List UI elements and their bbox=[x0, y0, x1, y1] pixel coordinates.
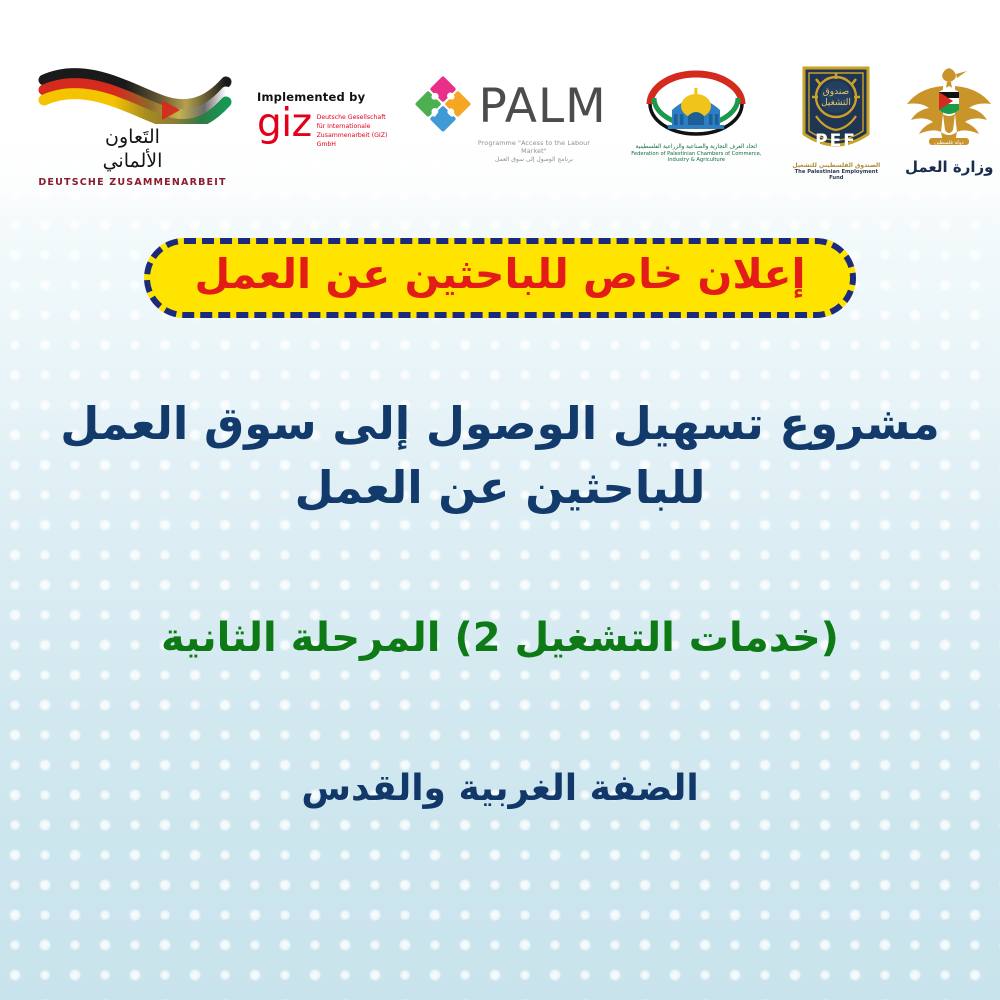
eagle-of-saladin-icon: دولة فلسطين bbox=[898, 64, 1000, 154]
logo-federation-chambers: اتحاد الغرف التجارية والصناعية والزراعية… bbox=[622, 62, 770, 163]
giz-subtitle: Deutsche Gesellschaft für Internationale… bbox=[317, 114, 395, 150]
german-coop-arabic-line2: الألماني bbox=[30, 150, 235, 172]
german-palestinian-flag-ribbon-icon bbox=[30, 62, 235, 124]
project-phase-subtitle: (خدمات التشغيل 2) المرحلة الثانية bbox=[60, 612, 940, 664]
logo-pef: صندوق التشغيل PEF الصندوق الفلسطيني للتش… bbox=[790, 62, 882, 181]
svg-text:دولة فلسطين: دولة فلسطين bbox=[935, 140, 965, 146]
palm-puzzle-diamond-icon bbox=[415, 76, 471, 136]
dome-of-the-rock-emblem-icon bbox=[622, 70, 770, 142]
svg-text:التشغيل: التشغيل bbox=[821, 98, 851, 108]
ministry-of-labour-label: وزارة العمل bbox=[898, 158, 1000, 176]
announcement-banner-text: إعلان خاص للباحثين عن العمل bbox=[194, 250, 805, 298]
palm-tagline-en: Programme "Access to the Labour Market" bbox=[467, 139, 600, 155]
logo-ministry-of-labour: دولة فلسطين وزارة العمل bbox=[898, 62, 1000, 176]
federation-english-label: Federation of Palestinian Chambers of Co… bbox=[622, 151, 770, 163]
announcement-banner: إعلان خاص للباحثين عن العمل bbox=[144, 238, 855, 318]
pef-english-label: The Palestinian Employment Fund bbox=[790, 169, 882, 181]
pef-crest-icon: صندوق التشغيل PEF bbox=[790, 64, 882, 160]
logo-giz: Implemented by giz Deutsche Gesellschaft… bbox=[257, 62, 395, 150]
svg-text:PEF: PEF bbox=[815, 131, 857, 151]
announcement-banner-wrapper: إعلان خاص للباحثين عن العمل bbox=[0, 238, 1000, 318]
announcement-poster: التَعاون الألماني DEUTSCHE ZUSAMMENARBEI… bbox=[0, 0, 1000, 1000]
giz-wordmark: giz bbox=[257, 107, 312, 141]
pef-arabic-label: الصندوق الفلسطيني للتشغيل bbox=[790, 162, 882, 169]
german-coop-latin-label: DEUTSCHE ZUSAMMENARBEIT bbox=[30, 177, 235, 188]
palm-tagline-ar: برنامج الوصول إلى سوق العمل bbox=[467, 156, 600, 163]
palm-wordmark: PALM bbox=[478, 83, 606, 130]
logo-palm: PALM Programme "Access to the Labour Mar… bbox=[415, 62, 600, 163]
project-region-label: الضفة الغربية والقدس bbox=[60, 766, 940, 813]
partner-logo-strip: التَعاون الألماني DEUTSCHE ZUSAMMENARBEI… bbox=[0, 62, 1000, 192]
german-coop-arabic-line1: التَعاون bbox=[30, 126, 235, 148]
federation-arabic-label: اتحاد الغرف التجارية والصناعية والزراعية… bbox=[622, 144, 770, 150]
logo-german-cooperation: التَعاون الألماني DEUTSCHE ZUSAMMENARBEI… bbox=[30, 62, 235, 188]
svg-text:صندوق: صندوق bbox=[823, 87, 849, 97]
project-title: مشروع تسهيل الوصول إلى سوق العمل للباحثي… bbox=[60, 392, 940, 520]
